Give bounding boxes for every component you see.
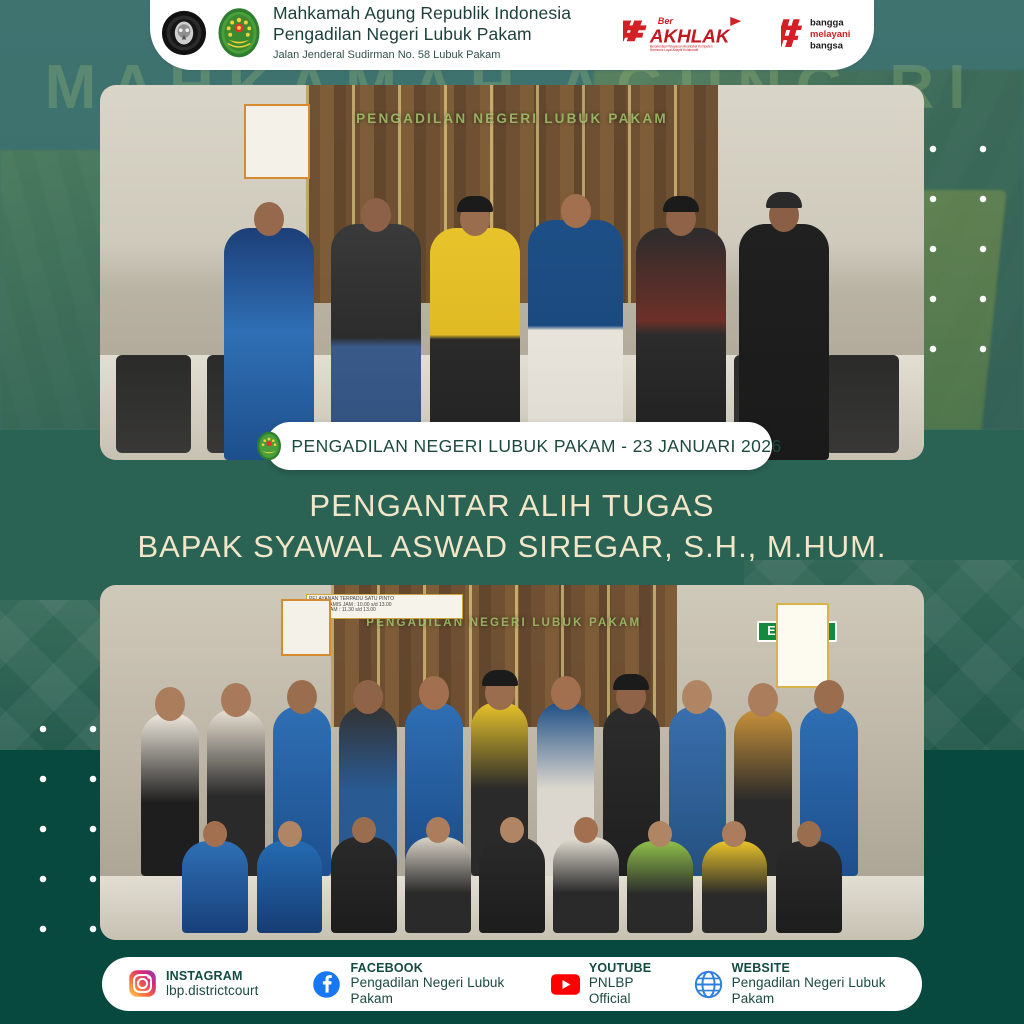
title-line-1: PENGANTAR ALIH TUGAS bbox=[0, 486, 1024, 527]
supreme-court-emblem-icon bbox=[217, 7, 261, 59]
instagram-label: INSTAGRAM bbox=[166, 969, 258, 984]
photo-top: PENGADILAN NEGERI LUBUK PAKAM bbox=[100, 85, 924, 460]
framed-document bbox=[244, 104, 310, 179]
facebook-icon bbox=[312, 970, 341, 999]
court-emblem-icon bbox=[256, 431, 282, 461]
instagram-icon bbox=[128, 969, 157, 998]
social-website[interactable]: WEBSITE Pengadilan Negeri Lubuk Pakam bbox=[694, 961, 896, 1008]
person-figure bbox=[182, 841, 248, 933]
website-label: WEBSITE bbox=[732, 961, 896, 976]
person-figure bbox=[627, 841, 693, 933]
social-instagram[interactable]: INSTAGRAM lbp.districtcourt bbox=[128, 969, 258, 1000]
youtube-label: YOUTUBE bbox=[589, 961, 660, 976]
office-chair bbox=[825, 355, 899, 453]
svg-text:melayani: melayani bbox=[810, 29, 850, 40]
person-figure bbox=[776, 841, 842, 933]
person-figure bbox=[553, 837, 619, 933]
berakhlak-logo-icon: Ber AKHLAK Berorientasi Pelayanan Akunta… bbox=[623, 12, 751, 52]
social-facebook[interactable]: FACEBOOK Pengadilan Negeri Lubuk Pakam bbox=[312, 961, 514, 1008]
svg-text:Ber: Ber bbox=[658, 17, 674, 27]
person-figure bbox=[331, 837, 397, 933]
instagram-handle: lbp.districtcourt bbox=[166, 983, 258, 999]
photo-bottom-scene: PENGADILAN NEGERI LUBUK PAKAM PELAYANAN … bbox=[100, 585, 924, 940]
poster-canvas: MAHKAMAH AGUNG RI bbox=[0, 0, 1024, 1024]
photo-top-scene: PENGADILAN NEGERI LUBUK PAKAM bbox=[100, 85, 924, 460]
website-name: Pengadilan Negeri Lubuk Pakam bbox=[732, 975, 896, 1007]
person-figure bbox=[257, 841, 323, 933]
person-figure bbox=[405, 837, 471, 933]
person-figure bbox=[702, 841, 768, 933]
globe-icon bbox=[694, 970, 723, 999]
courtroom-sign-bottom: PENGADILAN NEGERI LUBUK PAKAM bbox=[331, 617, 677, 633]
person-figure bbox=[479, 837, 545, 933]
svg-text:bangga: bangga bbox=[810, 18, 844, 29]
framed-document bbox=[281, 599, 330, 656]
title-line-2: BAPAK SYAWAL ASWAD SIREGAR, S.H., M.HUM. bbox=[0, 527, 1024, 568]
caption-text: PENGADILAN NEGERI LUBUK PAKAM - 23 JANUA… bbox=[291, 436, 781, 457]
org-name-line2: Pengadilan Negeri Lubuk Pakam bbox=[273, 24, 571, 45]
org-name-line1: Mahkamah Agung Republik Indonesia bbox=[273, 3, 571, 24]
caption-pill: PENGADILAN NEGERI LUBUK PAKAM - 23 JANUA… bbox=[266, 422, 772, 470]
office-chair bbox=[116, 355, 190, 453]
photo-bottom: PENGADILAN NEGERI LUBUK PAKAM PELAYANAN … bbox=[100, 585, 924, 940]
youtube-icon bbox=[551, 970, 580, 999]
black-court-seal-icon bbox=[161, 10, 207, 56]
facebook-label: FACEBOOK bbox=[350, 961, 514, 976]
header-card: Mahkamah Agung Republik Indonesia Pengad… bbox=[150, 0, 874, 70]
facebook-handle: Pengadilan Negeri Lubuk Pakam bbox=[350, 975, 514, 1007]
org-address: Jalan Jenderal Sudirman No. 58 Lubuk Pak… bbox=[273, 48, 571, 62]
courtroom-sign-top: PENGADILAN NEGERI LUBUK PAKAM bbox=[322, 111, 701, 127]
svg-text:bangsa: bangsa bbox=[810, 40, 844, 51]
header-text-block: Mahkamah Agung Republik Indonesia Pengad… bbox=[273, 3, 571, 62]
wall-poster bbox=[776, 603, 830, 688]
title-block: PENGANTAR ALIH TUGAS BAPAK SYAWAL ASWAD … bbox=[0, 486, 1024, 568]
social-footer-bar: INSTAGRAM lbp.districtcourt FACEBOOK Pen… bbox=[102, 957, 922, 1011]
bangga-melayani-bangsa-logo-icon: bangga melayani bangsa bbox=[781, 13, 863, 52]
social-youtube[interactable]: YOUTUBE PNLBP Official bbox=[551, 961, 660, 1008]
youtube-handle: PNLBP Official bbox=[589, 975, 660, 1007]
akhlak-tagline-2: Harmonis Loyal Adaptif Kolaboratif bbox=[650, 48, 699, 52]
